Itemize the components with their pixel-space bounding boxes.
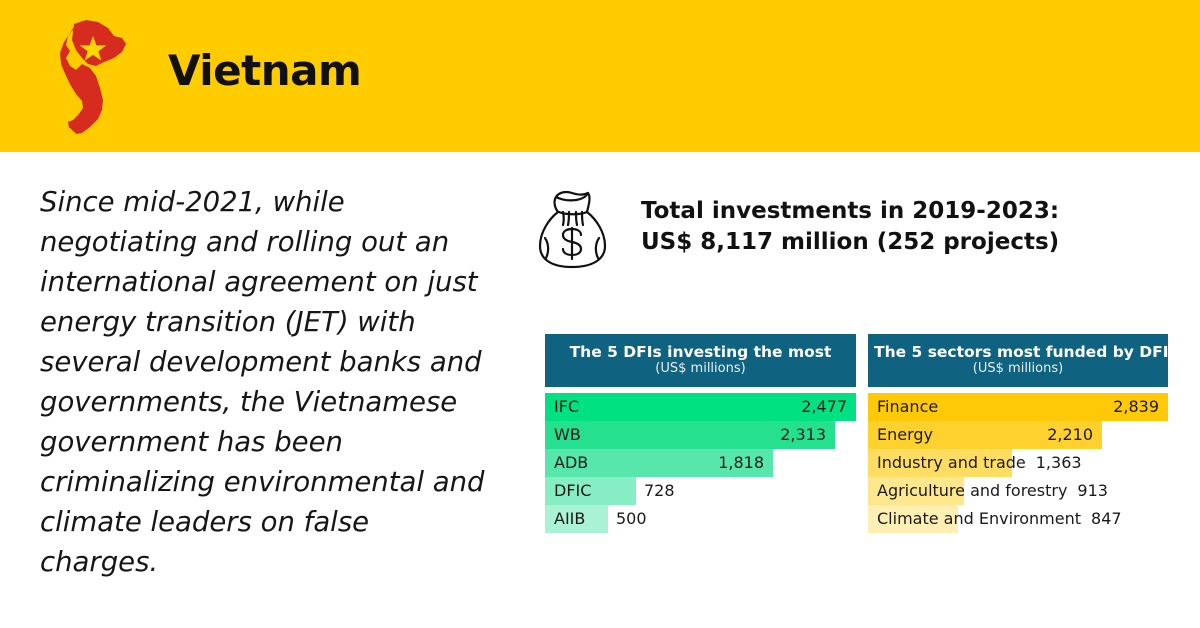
chart-bar-value: 2,477	[801, 393, 847, 421]
chart-row: Energy2,210	[868, 421, 1168, 449]
chart-panel-dfis-header: The 5 DFIs investing the most (US$ milli…	[545, 334, 856, 387]
total-investments-block: Total investments in 2019-2023: US$ 8,11…	[533, 186, 1173, 278]
chart-row: DFIC728	[545, 477, 856, 505]
total-investments-line1: Total investments in 2019-2023:	[641, 196, 1161, 227]
chart-bar-value: 1,818	[718, 449, 764, 477]
chart-bar-label: WB	[554, 421, 581, 449]
chart-bar-value: 847	[1091, 505, 1122, 533]
chart-panel-sectors: The 5 sectors most funded by DFIs (US$ m…	[868, 334, 1168, 533]
page-header: Vietnam	[0, 0, 1200, 152]
chart-bar-value: 728	[644, 477, 675, 505]
chart-row: Climate and Environment847	[868, 505, 1168, 533]
total-investments-line2: US$ 8,117 million (252 projects)	[641, 227, 1161, 258]
chart-panel-dfis-title: The 5 DFIs investing the most	[551, 343, 850, 361]
chart-bar-value: 500	[616, 505, 647, 533]
chart-panel-sectors-header: The 5 sectors most funded by DFIs (US$ m…	[868, 334, 1168, 387]
chart-bar-label: Energy	[877, 421, 933, 449]
chart-panel-sectors-title: The 5 sectors most funded by DFIs	[874, 343, 1162, 361]
chart-bar-label: ADB	[554, 449, 588, 477]
chart-bar-label: Climate and Environment	[877, 505, 1081, 533]
chart-row: AIIB500	[545, 505, 856, 533]
chart-bar-value: 1,363	[1036, 449, 1082, 477]
chart-bar-value: 2,210	[1047, 421, 1093, 449]
chart-rows-sectors: Finance2,839Energy2,210Industry and trad…	[868, 393, 1168, 533]
chart-bar-value: 2,839	[1113, 393, 1159, 421]
chart-bar-label: DFIC	[554, 477, 591, 505]
chart-panel-sectors-subtitle: (US$ millions)	[874, 361, 1162, 377]
chart-bar-label: Agriculture and forestry	[877, 477, 1067, 505]
chart-row: Finance2,839	[868, 393, 1168, 421]
chart-panel-dfis-subtitle: (US$ millions)	[551, 361, 850, 377]
chart-bar-value: 2,313	[780, 421, 826, 449]
chart-row: WB2,313	[545, 421, 856, 449]
money-bag-icon	[533, 188, 615, 272]
chart-panel-dfis: The 5 DFIs investing the most (US$ milli…	[545, 334, 856, 533]
page-title: Vietnam	[168, 50, 361, 92]
chart-row: ADB1,818	[545, 449, 856, 477]
total-investments-text: Total investments in 2019-2023: US$ 8,11…	[641, 196, 1161, 258]
narrative-text: Since mid-2021, while negotiating and ro…	[40, 182, 492, 582]
vietnam-map-icon	[52, 18, 138, 136]
chart-row: Industry and trade1,363	[868, 449, 1168, 477]
chart-row: IFC2,477	[545, 393, 856, 421]
chart-rows-dfis: IFC2,477WB2,313ADB1,818DFIC728AIIB500	[545, 393, 856, 533]
chart-bar-label: Industry and trade	[877, 449, 1026, 477]
chart-bar-label: Finance	[877, 393, 938, 421]
chart-bar-label: IFC	[554, 393, 579, 421]
chart-bar-label: AIIB	[554, 505, 585, 533]
chart-bar-value: 913	[1077, 477, 1108, 505]
chart-row: Agriculture and forestry913	[868, 477, 1168, 505]
